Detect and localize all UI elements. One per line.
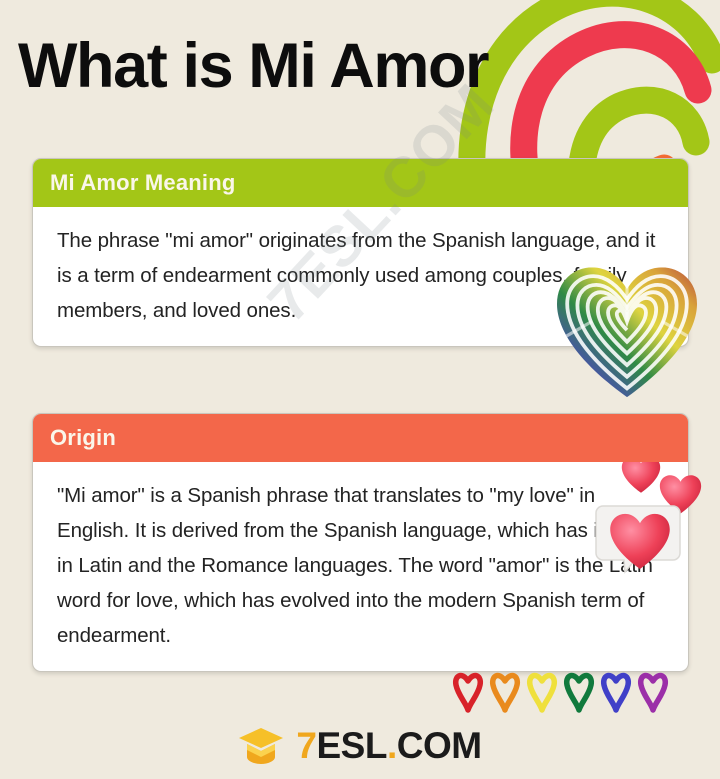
card-text-meaning: The phrase "mi amor" originates from the… <box>57 223 666 328</box>
card-body-origin: "Mi amor" is a Spanish phrase that trans… <box>33 462 688 671</box>
card-body-meaning: The phrase "mi amor" originates from the… <box>33 207 688 346</box>
logo-esl: ESL <box>317 726 387 766</box>
poster-canvas: What is Mi Amor Mi Amor Meaning The phra… <box>0 0 720 779</box>
page-title: What is Mi Amor <box>18 33 488 99</box>
logo-com: COM <box>397 726 482 766</box>
logo-dot: . <box>387 726 397 766</box>
card-origin: Origin "Mi amor" is a Spanish phrase tha… <box>32 413 689 672</box>
logo-wordmark: 7ESL.COM <box>296 726 481 766</box>
graduation-cap-icon <box>238 726 285 766</box>
card-mi-amor-meaning: Mi Amor Meaning The phrase "mi amor" ori… <box>32 158 689 347</box>
footer-logo[interactable]: 7ESL.COM <box>0 722 720 770</box>
card-header-meaning: Mi Amor Meaning <box>33 159 688 207</box>
rainbow-hearts-row <box>452 668 677 714</box>
card-header-origin: Origin <box>33 414 688 462</box>
logo-seven: 7 <box>296 726 316 766</box>
card-text-origin: "Mi amor" is a Spanish phrase that trans… <box>57 478 666 653</box>
